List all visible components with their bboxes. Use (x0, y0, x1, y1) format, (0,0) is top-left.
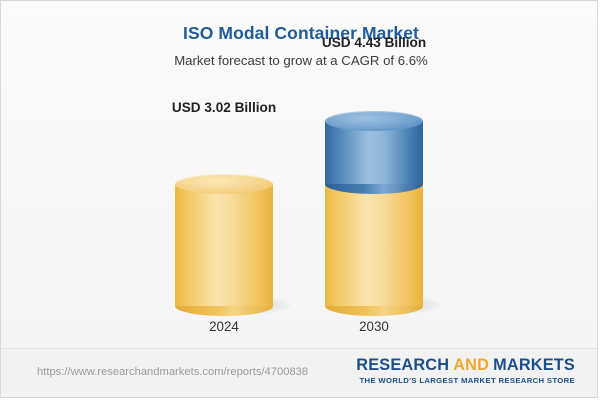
chart-plot-area: USD 3.02 Billion USD 4.43 Billion (1, 1, 598, 351)
cylinder-2024 (175, 184, 273, 306)
bar-group-2030: USD 4.43 Billion (325, 66, 423, 306)
report-url[interactable]: https://www.researchandmarkets.com/repor… (37, 366, 308, 378)
cylinder-cap-2024 (175, 174, 273, 194)
logo-word-research: RESEARCH (356, 356, 449, 374)
bar-value-label-2024: USD 3.02 Billion (134, 100, 314, 115)
research-and-markets-logo[interactable]: RESEARCHANDMARKETS THE WORLD'S LARGEST M… (356, 357, 575, 385)
footer-bar: https://www.researchandmarkets.com/repor… (1, 348, 598, 397)
cylinder-cap-2030 (325, 111, 423, 131)
logo-word-markets: MARKETS (493, 356, 575, 374)
cylinder-body-2024 (175, 184, 273, 306)
cylinder-growth-segment-2030 (325, 121, 423, 184)
logo-tagline: THE WORLD'S LARGEST MARKET RESEARCH STOR… (356, 376, 575, 385)
category-label-2030: 2030 (284, 319, 464, 334)
cylinder-base-segment-2030 (325, 184, 423, 306)
bar-group-2024: USD 3.02 Billion (175, 131, 273, 306)
chart-card: ISO Modal Container Market Market foreca… (0, 0, 598, 398)
cylinder-body-yellow-2030 (325, 184, 423, 306)
bar-value-label-2030: USD 4.43 Billion (284, 35, 464, 50)
logo-wordmark: RESEARCHANDMARKETS (356, 357, 575, 374)
logo-word-and: AND (449, 356, 493, 374)
